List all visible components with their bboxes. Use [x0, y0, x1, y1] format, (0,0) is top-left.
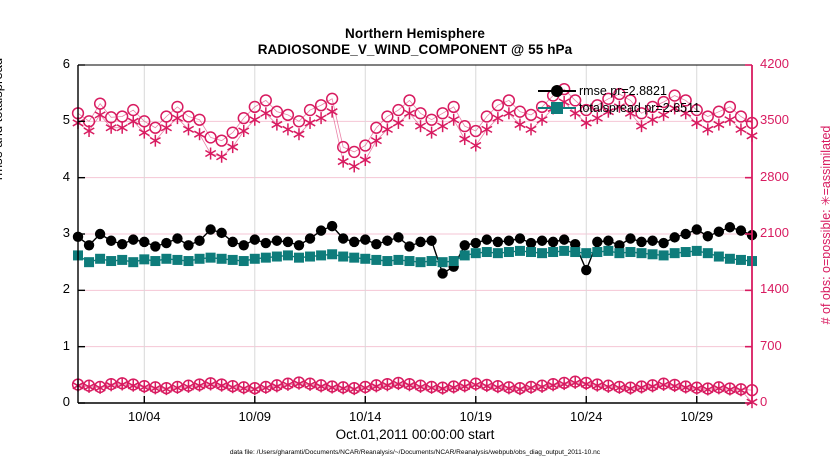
y-tick-right-2800: 2800	[760, 169, 808, 184]
y-axis-right-label: # of obs: o=possible; ✳=assimilated	[818, 50, 830, 400]
y-tick-left-2: 2	[40, 281, 70, 296]
y-tick-right-2100: 2100	[760, 225, 808, 240]
x-tick-10-14: 10/14	[335, 409, 395, 424]
x-tick-10-24: 10/24	[556, 409, 616, 424]
y-axis-left-label: rmse and totalspread	[0, 4, 5, 234]
chart-title-line1: Northern Hemisphere	[78, 26, 752, 42]
y-tick-right-700: 700	[760, 338, 808, 353]
chart-legend: rmse pr=2.8821 totalspread pr=2.6511	[538, 82, 752, 116]
legend-marker-rmse	[538, 84, 576, 98]
legend-label-rmse: rmse pr=2.8821	[576, 84, 667, 98]
chart-title: Northern Hemisphere RADIOSONDE_V_WIND_CO…	[78, 26, 752, 58]
y-tick-left-5: 5	[40, 112, 70, 127]
y-tick-left-3: 3	[40, 225, 70, 240]
data-file-footnote: data file: /Users/gharamti/Documents/NCA…	[78, 449, 752, 456]
x-tick-10-19: 10/19	[446, 409, 506, 424]
y-tick-right-4200: 4200	[760, 56, 808, 71]
y-tick-left-1: 1	[40, 338, 70, 353]
x-tick-10-04: 10/04	[114, 409, 174, 424]
y-tick-right-0: 0	[760, 394, 808, 409]
chart-title-line2: RADIOSONDE_V_WIND_COMPONENT @ 55 hPa	[78, 42, 752, 58]
y-tick-right-1400: 1400	[760, 281, 808, 296]
legend-item-rmse[interactable]: rmse pr=2.8821	[538, 82, 667, 99]
legend-label-totalspread: totalspread pr=2.6511	[576, 101, 700, 115]
y-tick-left-4: 4	[40, 169, 70, 184]
x-axis-label: Oct.01,2011 00:00:00 start	[78, 427, 752, 442]
chart-figure: Northern Hemisphere RADIOSONDE_V_WIND_CO…	[0, 0, 830, 470]
y-tick-right-3500: 3500	[760, 112, 808, 127]
x-tick-10-29: 10/29	[667, 409, 727, 424]
legend-marker-totalspread	[538, 101, 576, 115]
legend-item-totalspread[interactable]: totalspread pr=2.6511	[538, 99, 700, 116]
y-tick-left-0: 0	[40, 394, 70, 409]
x-tick-10-09: 10/09	[225, 409, 285, 424]
y-tick-left-6: 6	[40, 56, 70, 71]
